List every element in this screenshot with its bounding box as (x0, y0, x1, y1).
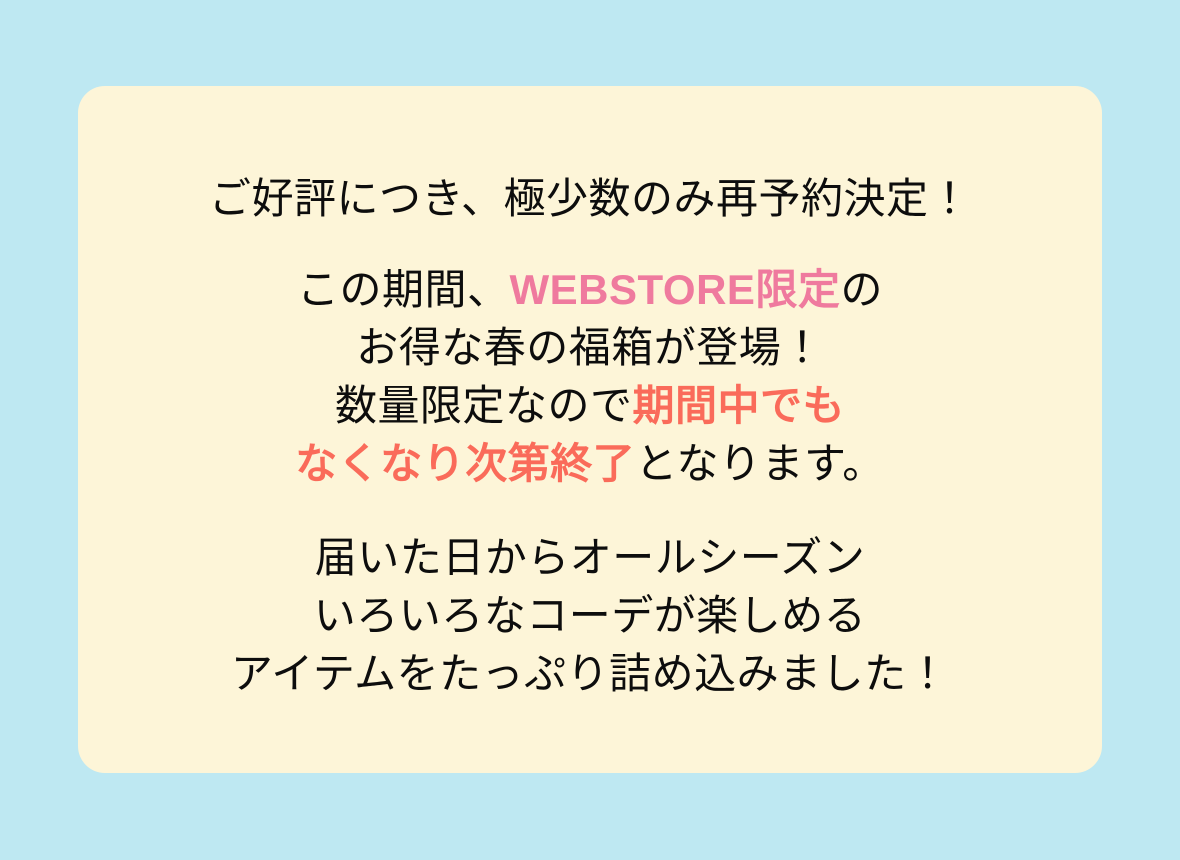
description-block: 届いた日からオールシーズン いろいろなコーデが楽しめる アイテムをたっぷり詰め込… (78, 529, 1102, 703)
offer-line-3-prefix: 数量限定なので (335, 382, 633, 429)
offer-line-1-suffix: の (840, 266, 883, 313)
headline-block: ご好評につき、極少数のみ再予約決定！ (78, 170, 1102, 228)
description-line-1: 届いた日からオールシーズン (78, 529, 1102, 587)
promo-canvas: ご好評につき、極少数のみ再予約決定！ この期間、WEBSTORE限定の お得な春… (0, 0, 1180, 860)
description-line-3: アイテムをたっぷり詰め込みました！ (78, 645, 1102, 703)
offer-line-4: なくなり次第終了となります。 (78, 435, 1102, 493)
offer-line-1-prefix: この期間、 (297, 266, 510, 313)
while-supplies-last-highlight: なくなり次第終了 (295, 440, 635, 487)
promo-card: ご好評につき、極少数のみ再予約決定！ この期間、WEBSTORE限定の お得な春… (78, 86, 1102, 773)
headline-line-1: ご好評につき、極少数のみ再予約決定！ (78, 170, 1102, 228)
offer-line-2: お得な春の福箱が登場！ (78, 319, 1102, 377)
offer-block: この期間、WEBSTORE限定の お得な春の福箱が登場！ 数量限定なので期間中で… (78, 261, 1102, 493)
offer-line-3: 数量限定なので期間中でも (78, 377, 1102, 435)
offer-line-4-suffix: となります。 (635, 440, 885, 487)
offer-line-1: この期間、WEBSTORE限定の (78, 261, 1102, 319)
webstore-exclusive-highlight: WEBSTORE限定 (510, 266, 841, 313)
description-line-2: いろいろなコーデが楽しめる (78, 587, 1102, 645)
limited-period-highlight: 期間中でも (633, 382, 846, 429)
